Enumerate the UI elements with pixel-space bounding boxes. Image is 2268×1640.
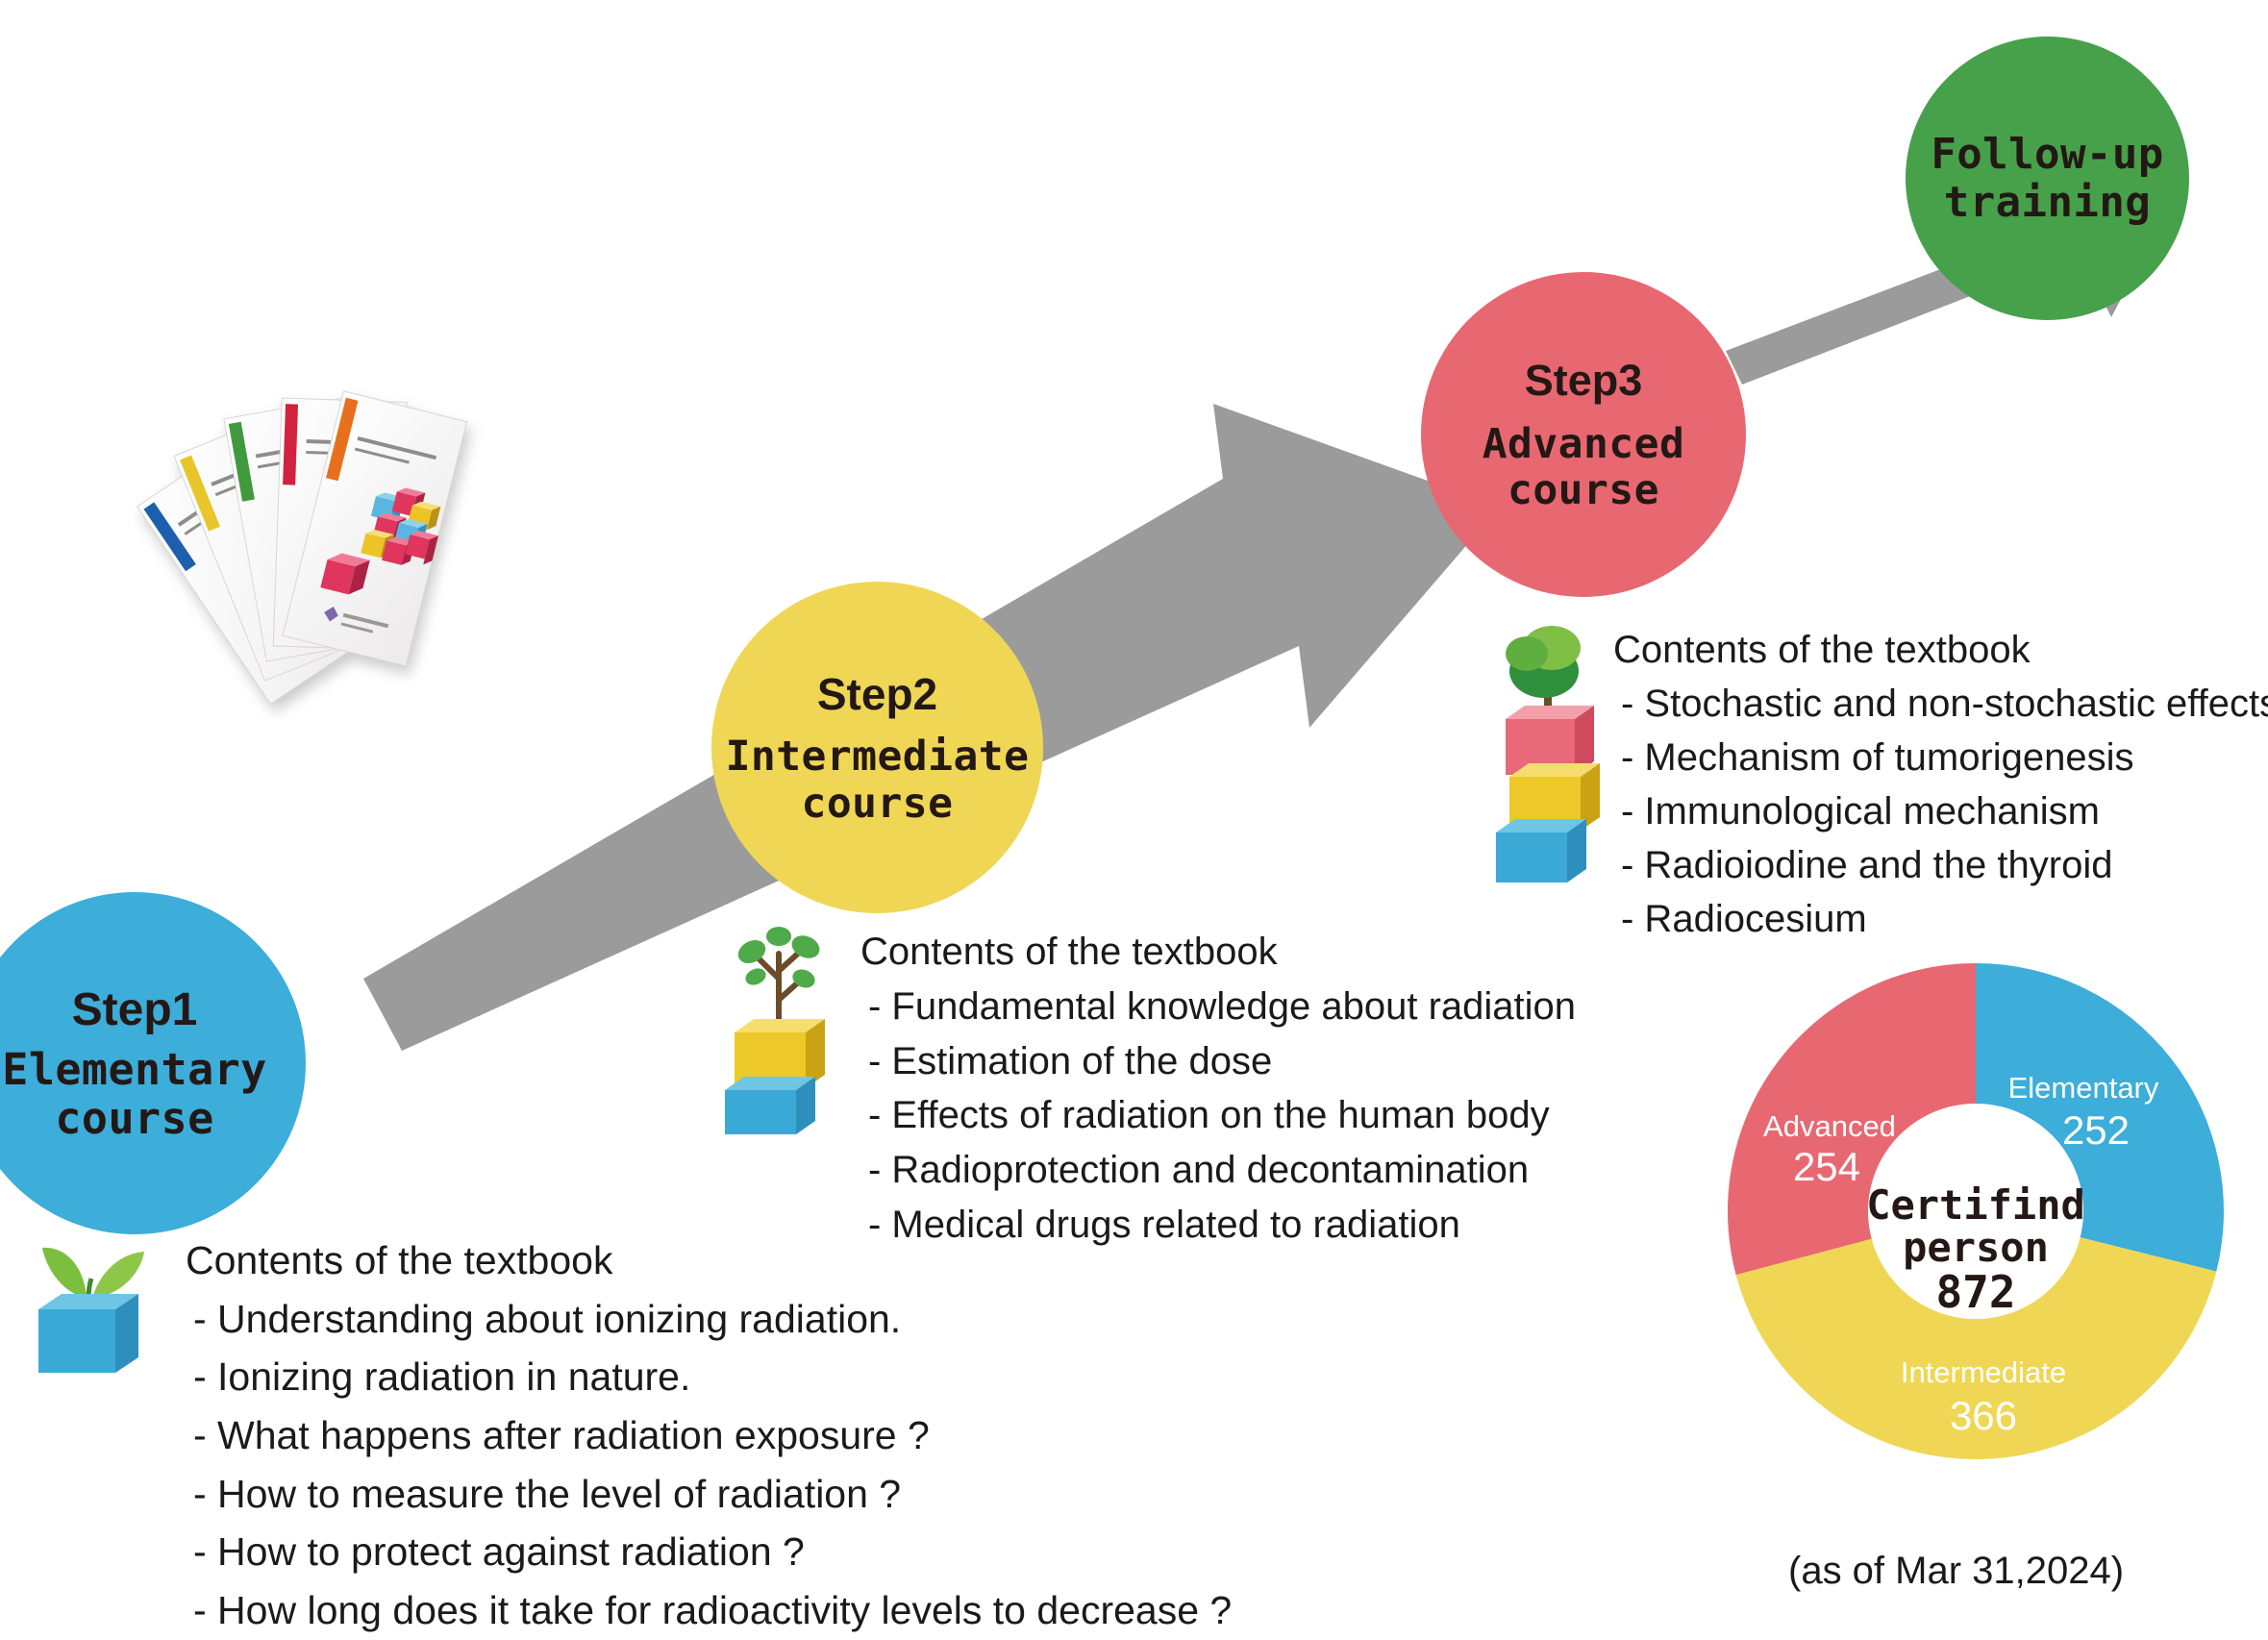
node-step3-name-line2: course [1508,467,1659,513]
contents-list-step2: Contents of the textbook - Fundamental k… [860,925,1576,1253]
node-followup-training[interactable]: Follow-up training [1906,37,2189,320]
node-followup-name-line2: training [1944,179,2151,226]
donut-center-line3: 872 [1935,1266,2015,1318]
node-step2-name-line2: course [802,781,954,827]
contents-step2-item-0: - Fundamental knowledge about radiation [860,980,1576,1034]
donut-label-elementary-value: 252 [2062,1107,2130,1153]
contents-step3-item-1: - Mechanism of tumorigenesis [1613,731,2268,784]
node-followup-name-line1: Follow-up [1931,131,2163,178]
donut-label-advanced-name: Advanced [1763,1109,1896,1143]
certified-person-donut-chart[interactable]: Certifind person 872 Elementary 252 Inte… [1726,961,2226,1461]
contents-step1-item-2: - What happens after radiation exposure … [186,1406,1232,1465]
contents-step3-item-2: - Immunological mechanism [1613,784,2268,838]
contents-list-step3: Contents of the textbook - Stochastic an… [1613,623,2268,946]
contents-step3-heading: Contents of the textbook [1613,623,2268,677]
contents-step3-item-4: - Radiocesium [1613,892,2268,946]
contents-step2-item-3: - Radioprotection and decontamination [860,1143,1576,1198]
node-step2-step-label: Step2 [817,668,937,720]
contents-step3-item-0: - Stochastic and non-stochastic effects [1613,677,2268,731]
contents-step2-item-1: - Estimation of the dose [860,1034,1576,1089]
donut-label-intermediate-name: Intermediate [1901,1355,2066,1389]
node-step1-name-line1: Elementary [2,1046,266,1094]
contents-step1-item-1: - Ionizing radiation in nature. [186,1348,1232,1406]
contents-step1-item-3: - How to measure the level of radiation … [186,1465,1232,1524]
node-step3-name-line1: Advanced [1483,421,1685,467]
donut-label-advanced-value: 254 [1793,1144,1860,1189]
diagram-canvas: Step1 Elementary course Step2 Intermedia… [0,0,2268,1629]
donut-label-intermediate-value: 366 [1950,1393,2017,1438]
node-step1-step-label: Step1 [72,983,198,1036]
node-step2-intermediate[interactable]: Step2 Intermediate course [711,582,1043,913]
node-step3-advanced[interactable]: Step3 Advanced course [1421,272,1746,597]
donut-label-elementary-name: Elementary [2008,1071,2159,1105]
node-step2-name-line1: Intermediate [726,733,1030,780]
contents-step3-item-3: - Radioiodine and the thyroid [1613,838,2268,892]
contents-step2-item-2: - Effects of radiation on the human body [860,1088,1576,1143]
donut-chart-caption: (as of Mar 31,2024) [1788,1550,2124,1593]
donut-center-line1: Certifind [1866,1181,2085,1229]
red-yellow-blue-cube-stack-with-tree-icon [1488,615,1611,904]
contents-list-step1: Contents of the textbook - Understanding… [186,1231,1232,1640]
textbook-fan-photo [91,336,591,721]
contents-step2-item-4: - Medical drugs related to radiation [860,1198,1576,1253]
contents-step1-item-5: - How long does it take for radioactivit… [186,1581,1232,1640]
node-step3-step-label: Step3 [1525,356,1643,406]
contents-step1-item-4: - How to protect against radiation ? [186,1523,1232,1581]
donut-center-line2: person [1903,1224,2049,1271]
contents-step2-heading: Contents of the textbook [860,925,1576,980]
yellow-blue-cube-stack-with-sapling-icon [719,915,842,1141]
contents-step1-item-0: - Understanding about ionizing radiation… [186,1290,1232,1349]
blue-cube-with-sprout-icon [17,1209,162,1387]
node-step1-name-line2: course [55,1095,213,1143]
